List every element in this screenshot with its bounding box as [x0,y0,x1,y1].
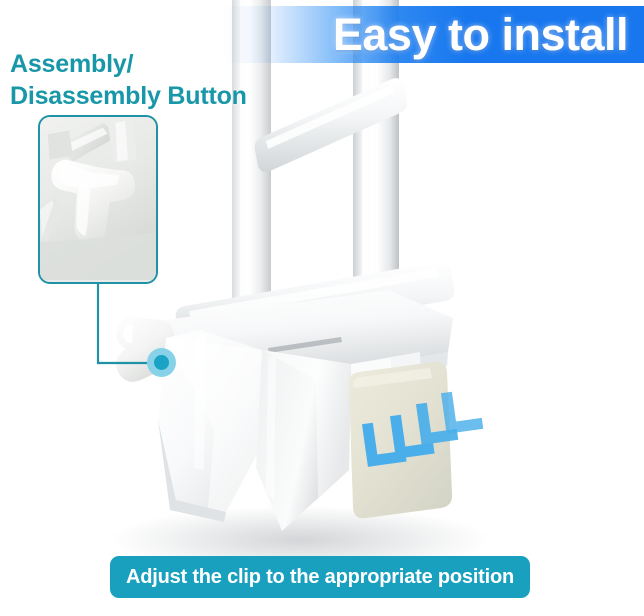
footer-text: Adjust the clip to the appropriate posit… [126,566,514,589]
infographic-canvas: Easy to install Assembly/ Disassembly Bu… [0,0,644,616]
arrow-chevron-4 [441,388,483,434]
callout-inset-box [38,115,158,284]
callout-label-line1: Assembly/ [10,48,310,80]
footer-banner: Adjust the clip to the appropriate posit… [110,556,530,598]
callout-label: Assembly/ Disassembly Button [10,48,310,112]
headline-text: Easy to install [333,12,628,57]
callout-marker-dot [147,348,176,377]
assembly-button-closeup-image [40,117,156,280]
callout-label-line2: Disassembly Button [10,80,310,112]
